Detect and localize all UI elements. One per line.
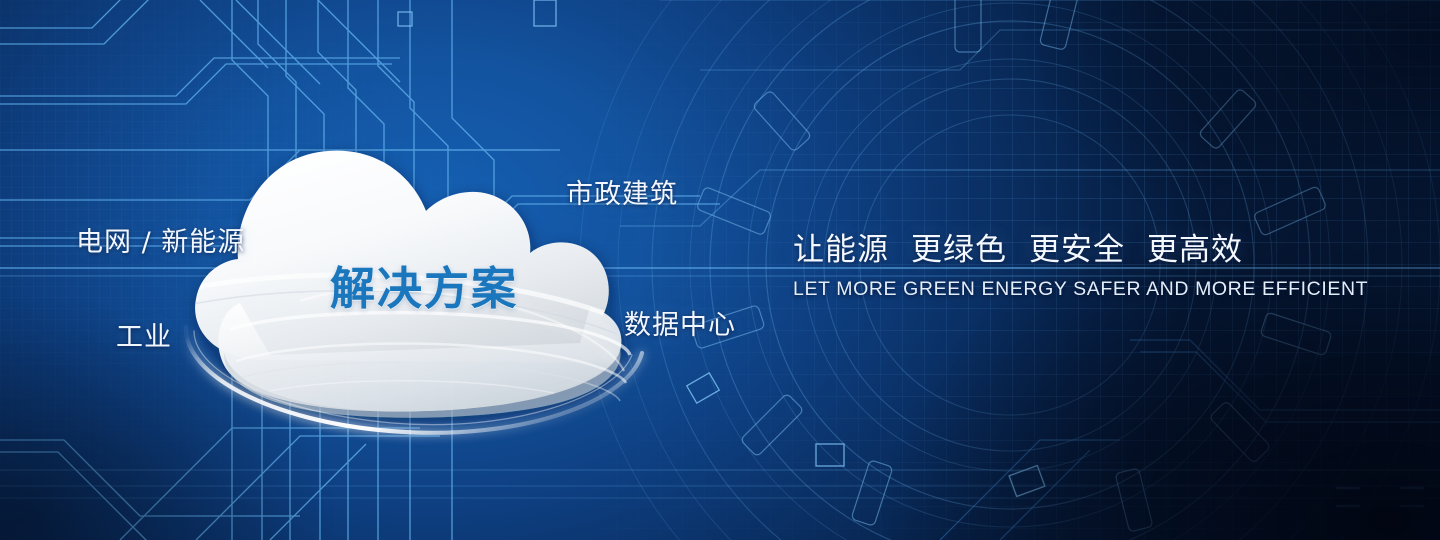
slogan-part-2: 更绿色 — [911, 232, 1007, 268]
label-data-center: 数据中心 — [624, 303, 736, 342]
slogan-english: LET MORE GREEN ENERGY SAFER AND MORE EFF… — [793, 278, 1353, 301]
solution-banner: 电网 / 新能源 工业 市政建筑 数据中心 解决方案 让能源更绿色更安全更高效 … — [0, 0, 1440, 540]
slogan-block: 让能源更绿色更安全更高效 LET MORE GREEN ENERGY SAFER… — [793, 224, 1353, 301]
slogan-part-1: 让能源 — [793, 232, 889, 268]
label-grid-new-energy: 电网 / 新能源 — [76, 220, 245, 259]
label-industry: 工业 — [116, 315, 172, 354]
solution-title: 解决方案 — [330, 252, 518, 317]
slogan-part-4: 更高效 — [1147, 232, 1243, 268]
slogan-part-3: 更安全 — [1029, 232, 1125, 268]
slogan-chinese: 让能源更绿色更安全更高效 — [793, 224, 1353, 269]
label-municipal-building: 市政建筑 — [566, 172, 678, 211]
